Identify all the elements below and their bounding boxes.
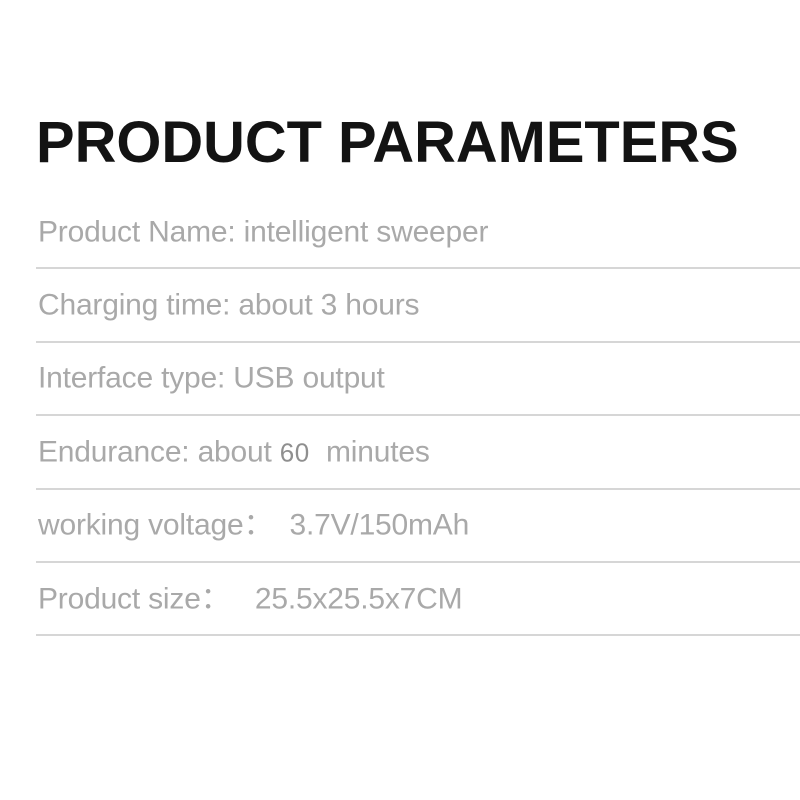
- spec-text-interface-type: Interface type: USB output: [38, 361, 385, 397]
- spec-text-charging-time: Charging time: about 3 hours: [38, 287, 419, 323]
- endurance-prefix: Endurance: about: [38, 435, 280, 468]
- spec-list: Product Name: intelligent sweeper Chargi…: [0, 196, 800, 636]
- spec-row-endurance: Endurance: about 60 minutes: [0, 416, 800, 489]
- spec-text-endurance: Endurance: about 60 minutes: [38, 434, 430, 470]
- spec-row-product-size: Product size： 25.5x25.5x7CM: [0, 563, 800, 636]
- spec-text-product-size: Product size： 25.5x25.5x7CM: [38, 581, 462, 617]
- spec-row-product-name: Product Name: intelligent sweeper: [0, 196, 800, 269]
- spec-row-interface-type: Interface type: USB output: [0, 343, 800, 416]
- page-title: PRODUCT PARAMETERS: [36, 112, 760, 174]
- spec-text-product-name: Product Name: intelligent sweeper: [38, 214, 488, 250]
- endurance-value: 60: [280, 437, 310, 467]
- row-divider: [36, 634, 800, 636]
- spec-row-charging-time: Charging time: about 3 hours: [0, 269, 800, 342]
- endurance-suffix: minutes: [310, 435, 430, 468]
- product-parameters-sheet: PRODUCT PARAMETERS Product Name: intelli…: [0, 0, 800, 800]
- spec-row-working-voltage: working voltage： 3.7V/150mAh: [0, 490, 800, 563]
- spec-text-working-voltage: working voltage： 3.7V/150mAh: [38, 508, 469, 544]
